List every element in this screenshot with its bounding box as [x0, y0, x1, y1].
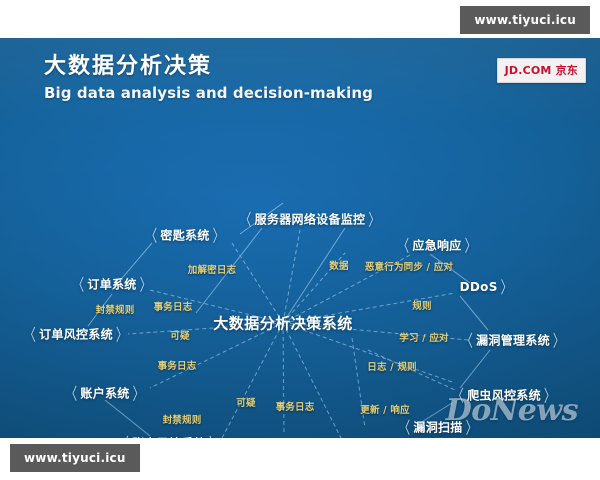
bracket-left-icon: 〈: [399, 415, 411, 438]
edge-label-ban-rule: 封禁规则: [96, 302, 135, 316]
diagram-node-emergency-response[interactable]: 〈 应急响应 〉: [398, 237, 477, 254]
diagram-node-account-risk-control[interactable]: 〈 账户风控系统 〉: [117, 435, 220, 439]
node-label: DDoS: [460, 280, 498, 294]
bracket-left-icon: 〈: [73, 272, 85, 295]
edge-label-suspicious-2: 可疑: [236, 395, 255, 409]
node-label: 密匙系统: [160, 227, 209, 244]
watermark-bottom: www.tiyuci.icu: [10, 444, 140, 472]
node-label: 订单风控系统: [39, 326, 113, 343]
edge-label-log-rule: 日志 / 规则: [367, 359, 417, 373]
slide-title-english: Big data analysis and decision-making: [44, 84, 373, 102]
node-label: 账户系统: [80, 385, 129, 402]
bracket-right-icon: 〉: [213, 223, 225, 246]
bracket-left-icon: 〈: [146, 223, 158, 246]
presentation-slide: 大数据分析决策 Big data analysis and decision-m…: [0, 38, 600, 438]
diagram-node-center[interactable]: 大数据分析决策系统: [213, 313, 353, 334]
bracket-left-icon: 〈: [461, 328, 473, 351]
bracket-left-icon: 〈: [117, 431, 129, 438]
edge-label-rule: 规则: [412, 298, 431, 312]
diagram-node-key-system[interactable]: 〈 密匙系统 〉: [146, 227, 225, 244]
diagram-node-ddos[interactable]: DDoS 〉: [460, 279, 513, 295]
bracket-left-icon: 〈: [66, 381, 78, 404]
node-label-center: 大数据分析决策系统: [213, 313, 353, 334]
bracket-right-icon: 〉: [553, 328, 565, 351]
bracket-right-icon: 〉: [133, 381, 145, 404]
edge-label-data: 数据: [329, 258, 348, 272]
watermark-top: www.tiyuci.icu: [460, 6, 590, 34]
edge-label-malicious-sync: 恶意行为同步 / 应对: [365, 259, 453, 273]
bracket-right-icon: 〉: [116, 322, 128, 345]
edge-label-learn-respond: 学习 / 应对: [399, 330, 449, 344]
slide-header: 大数据分析决策 Big data analysis and decision-m…: [44, 54, 373, 102]
edge-label-transaction-log-3: 事务日志: [276, 399, 315, 413]
bracket-right-icon: 〉: [368, 207, 380, 230]
diagram-node-order-system[interactable]: 〈 订单系统 〉: [73, 276, 152, 293]
slide-title-chinese: 大数据分析决策: [44, 54, 373, 79]
node-label: 订单系统: [87, 276, 136, 293]
bracket-left-icon: 〈: [240, 207, 252, 230]
bracket-left-icon: 〈: [398, 233, 410, 256]
edge-label-suspicious-1: 可疑: [170, 328, 189, 342]
diagram-node-server-monitor[interactable]: 〈 服务器网络设备监控 〉: [240, 211, 380, 228]
diagram-node-order-risk-control[interactable]: 〈 订单风控系统 〉: [24, 326, 127, 343]
screenshot-root: www.tiyuci.icu 大数据分析决策 Big data analysis…: [0, 0, 600, 480]
donews-watermark: DoNews: [446, 393, 578, 428]
edge-label-transaction-log-1: 事务日志: [154, 299, 193, 313]
bracket-right-icon: 〉: [465, 233, 477, 256]
node-label: 应急响应: [412, 237, 461, 254]
bracket-right-icon: 〉: [501, 275, 513, 298]
diagram-node-vulnerability-management[interactable]: 〈 漏洞管理系统 〉: [461, 332, 564, 349]
bracket-right-icon: 〉: [209, 431, 221, 438]
node-label: 服务器网络设备监控: [255, 211, 366, 228]
node-label: 漏洞管理系统: [476, 332, 550, 349]
edge-label-seal-rule: 封禁规则: [163, 412, 202, 426]
node-label: 账户风控系统: [132, 435, 206, 439]
diagram-node-account-system[interactable]: 〈 账户系统 〉: [66, 385, 145, 402]
edge-label-crypto-log: 加解密日志: [188, 262, 237, 276]
jd-com-logo: JD.COM 京东: [497, 58, 586, 83]
bracket-right-icon: 〉: [140, 272, 152, 295]
edge-label-transaction-log-2: 事务日志: [158, 358, 197, 372]
edge-label-update-respond: 更新 / 响应: [360, 402, 410, 416]
bracket-left-icon: 〈: [24, 322, 36, 345]
